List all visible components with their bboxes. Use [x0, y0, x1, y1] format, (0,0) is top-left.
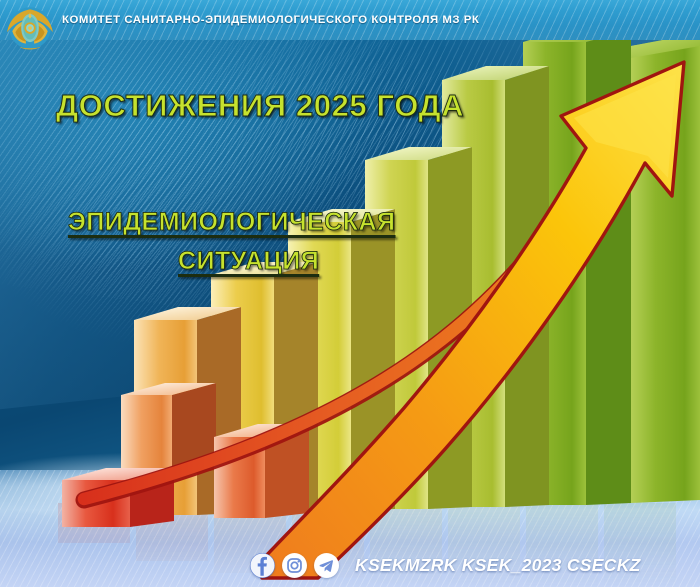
- telegram-icon[interactable]: [314, 553, 339, 578]
- footer-social-bar: KSEKMZRK KSEK_2023 CSECKZ: [250, 553, 641, 578]
- social-handles: KSEKMZRK KSEK_2023 CSECKZ: [355, 555, 641, 576]
- poster-root: ДОСТИЖЕНИЯ 2025 ГОДА ЭПИДЕМИОЛОГИЧЕСКАЯ …: [0, 0, 700, 587]
- facebook-icon[interactable]: [250, 553, 275, 578]
- header-bar: КОМИТЕТ САНИТАРНО-ЭПИДЕМИОЛОГИЧЕСКОГО КО…: [0, 0, 700, 40]
- page-subtitle-line1: ЭПИДЕМИОЛОГИЧЕСКАЯ: [68, 208, 396, 237]
- page-subtitle-line2: СИТУАЦИЯ: [178, 247, 319, 276]
- page-title: ДОСТИЖЕНИЯ 2025 ГОДА: [56, 88, 464, 124]
- instagram-icon[interactable]: [282, 553, 307, 578]
- header-title: КОМИТЕТ САНИТАРНО-ЭПИДЕМИОЛОГИЧЕСКОГО КО…: [62, 14, 479, 26]
- kazakhstan-state-emblem-icon: [4, 1, 56, 53]
